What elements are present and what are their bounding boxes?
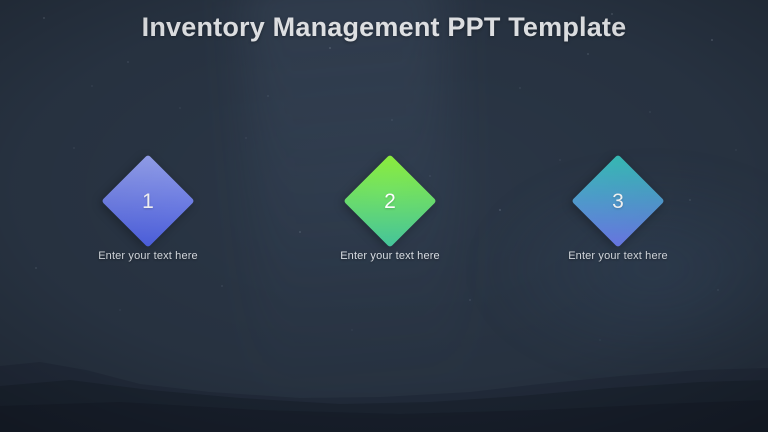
slide-canvas: Inventory Management PPT Template 1 Ente… — [0, 0, 768, 432]
page-title: Inventory Management PPT Template — [0, 12, 768, 43]
diamond-wrap-3[interactable]: 3 — [585, 168, 651, 234]
step-number-3: 3 — [585, 168, 651, 234]
step-caption-3[interactable]: Enter your text here — [528, 250, 708, 262]
step-item-2[interactable]: 2 Enter your text here — [300, 168, 480, 262]
diamond-wrap-1[interactable]: 1 — [115, 168, 181, 234]
diamond-wrap-2[interactable]: 2 — [357, 168, 423, 234]
steps-row: 1 Enter your text here 2 Enter your text… — [0, 168, 768, 278]
step-number-1: 1 — [115, 168, 181, 234]
step-item-1[interactable]: 1 Enter your text here — [58, 168, 238, 262]
step-number-2: 2 — [357, 168, 423, 234]
step-item-3[interactable]: 3 Enter your text here — [528, 168, 708, 262]
step-caption-2[interactable]: Enter your text here — [300, 250, 480, 262]
step-caption-1[interactable]: Enter your text here — [58, 250, 238, 262]
